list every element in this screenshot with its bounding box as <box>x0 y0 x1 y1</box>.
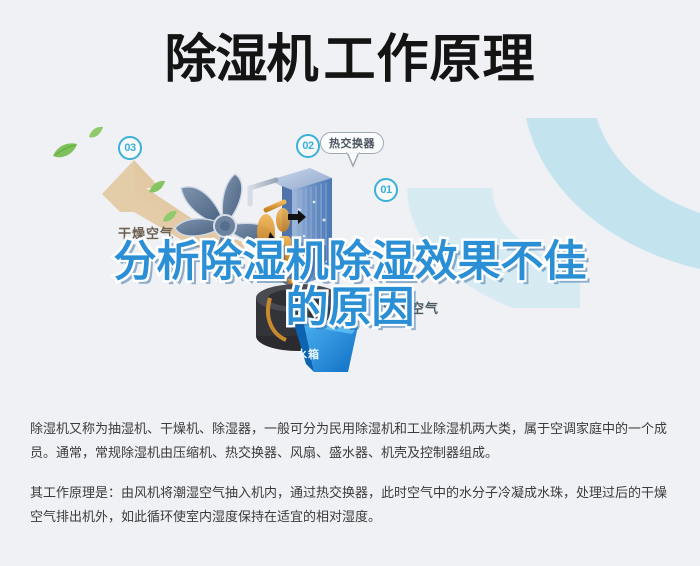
body-paragraph-2: 其工作原理是：由风机将潮湿空气抽入机内，通过热交换器，此时空气中的水分子冷凝成水… <box>30 482 672 530</box>
badge-02-heat-exchanger: 02 <box>296 134 320 158</box>
dry-air-label: 干燥空气 <box>118 223 174 242</box>
water-tank-label: 水箱 <box>296 346 320 362</box>
diagram-stage: 干燥空气 <box>0 118 700 406</box>
body-paragraph-1: 除湿机又称为抽湿机、干燥机、除湿器，一般可分为民用除湿机和工业除湿机两大类，属于… <box>30 418 672 466</box>
badge-01-humid-air: 01 <box>374 178 398 202</box>
humid-air-label: 潮湿空气 <box>383 298 439 317</box>
leaf-icon <box>88 126 104 139</box>
title-band: 除湿机工作原理 <box>0 0 700 120</box>
leaf-icon <box>52 142 78 160</box>
leaf-icon <box>148 180 166 194</box>
heat-exchanger-callout: 热交换器 <box>320 132 384 154</box>
title-part-a: 除湿机 <box>164 30 317 90</box>
page-title: 除湿机工作原理 <box>164 34 535 86</box>
humid-air-stream-secondary <box>380 188 580 308</box>
title-part-b: 工作原理 <box>324 30 536 90</box>
callout-pointer-icon <box>345 152 361 168</box>
body-copy: 除湿机又称为抽湿机、干燥机、除湿器，一般可分为民用除湿机和工业除湿机两大类，属于… <box>30 418 672 546</box>
badge-03-dry-air: 03 <box>118 136 142 160</box>
page-root: 除湿机工作原理 干燥空气 <box>0 0 700 566</box>
